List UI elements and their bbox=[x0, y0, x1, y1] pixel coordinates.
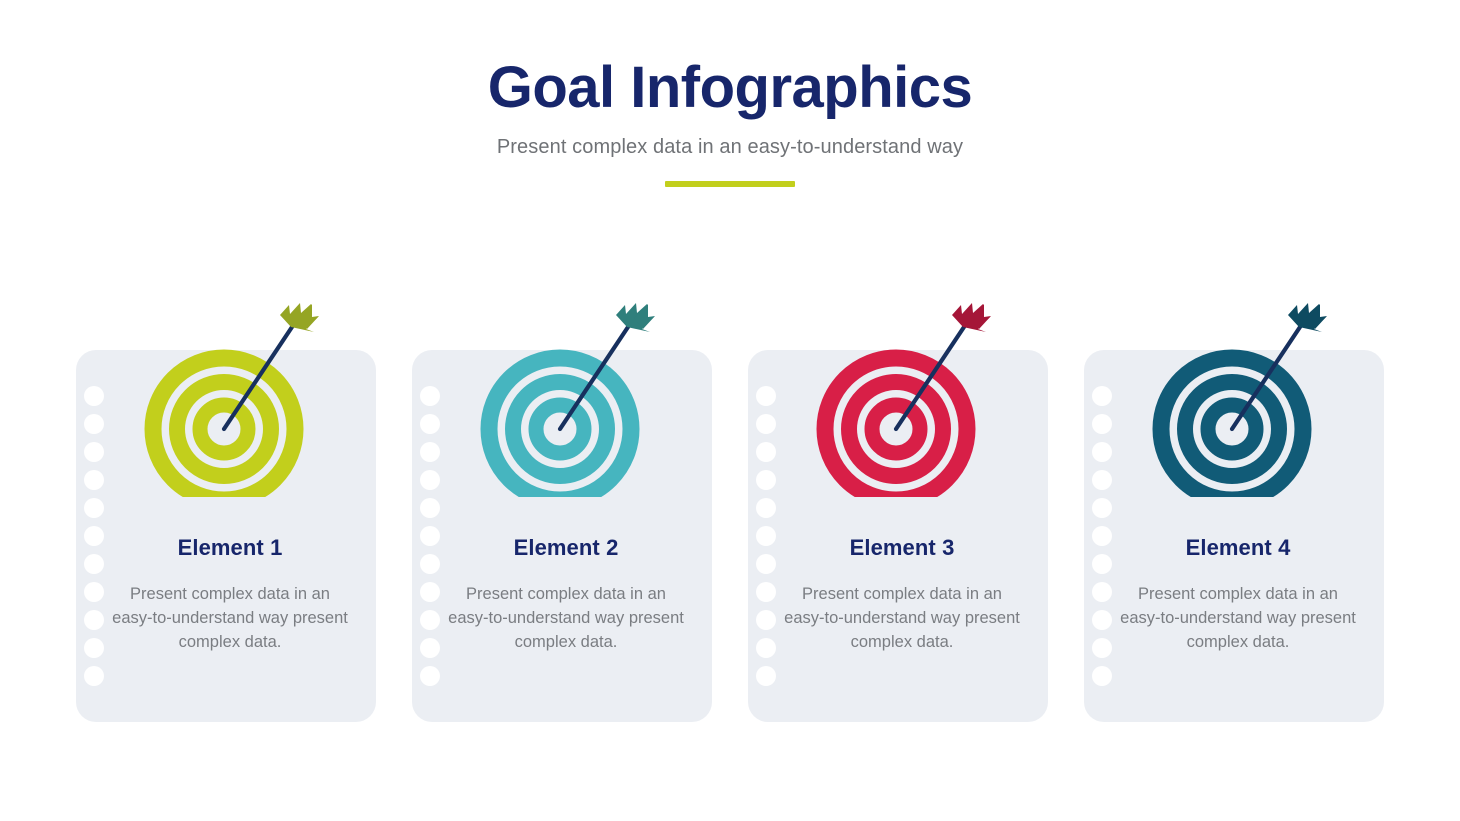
punch-hole bbox=[756, 442, 776, 462]
slide-canvas: Goal Infographics Present complex data i… bbox=[0, 0, 1460, 821]
bullseye-rings bbox=[1161, 358, 1303, 497]
arrow bbox=[1232, 303, 1327, 429]
punch-hole bbox=[756, 666, 776, 686]
card-title-1: Element 1 bbox=[94, 535, 366, 561]
bullseye-rings bbox=[153, 358, 295, 497]
card-body-4: Element 4 Present complex data in an eas… bbox=[1102, 535, 1374, 655]
page-title: Goal Infographics bbox=[0, 56, 1460, 120]
target-bullseye-arrow-icon bbox=[126, 282, 326, 497]
page-subtitle: Present complex data in an easy-to-under… bbox=[0, 136, 1460, 159]
target-bullseye-arrow-icon bbox=[462, 282, 662, 497]
card-title-4: Element 4 bbox=[1102, 535, 1374, 561]
punch-hole bbox=[84, 442, 104, 462]
punch-hole bbox=[420, 386, 440, 406]
punch-hole bbox=[756, 470, 776, 490]
card-body-1: Element 1 Present complex data in an eas… bbox=[94, 535, 366, 655]
element-card-3[interactable]: Element 3 Present complex data in an eas… bbox=[748, 350, 1048, 722]
element-card-2[interactable]: Element 2 Present complex data in an eas… bbox=[412, 350, 712, 722]
card-title-2: Element 2 bbox=[430, 535, 702, 561]
punch-hole bbox=[420, 470, 440, 490]
element-card-4[interactable]: Element 4 Present complex data in an eas… bbox=[1084, 350, 1384, 722]
punch-hole bbox=[1092, 442, 1112, 462]
punch-hole bbox=[1092, 386, 1112, 406]
slide-header: Goal Infographics Present complex data i… bbox=[0, 56, 1460, 187]
punch-hole bbox=[1092, 414, 1112, 434]
card-text-4: Present complex data in an easy-to-under… bbox=[1102, 583, 1374, 655]
punch-hole bbox=[84, 666, 104, 686]
card-title-3: Element 3 bbox=[766, 535, 1038, 561]
card-text-1: Present complex data in an easy-to-under… bbox=[94, 583, 366, 655]
arrow bbox=[560, 303, 655, 429]
punch-hole bbox=[1092, 470, 1112, 490]
bullseye-rings bbox=[489, 358, 631, 497]
card-text-2: Present complex data in an easy-to-under… bbox=[430, 583, 702, 655]
bullseye-rings bbox=[825, 358, 967, 497]
punch-hole bbox=[420, 442, 440, 462]
punch-hole bbox=[84, 470, 104, 490]
punch-hole bbox=[84, 498, 104, 518]
element-card-1[interactable]: Element 1 Present complex data in an eas… bbox=[76, 350, 376, 722]
card-body-2: Element 2 Present complex data in an eas… bbox=[430, 535, 702, 655]
card-body-3: Element 3 Present complex data in an eas… bbox=[766, 535, 1038, 655]
punch-hole bbox=[420, 414, 440, 434]
punch-hole bbox=[84, 386, 104, 406]
card-text-3: Present complex data in an easy-to-under… bbox=[766, 583, 1038, 655]
target-bullseye-arrow-icon bbox=[1134, 282, 1334, 497]
punch-hole bbox=[1092, 666, 1112, 686]
punch-hole bbox=[756, 498, 776, 518]
punch-hole bbox=[756, 386, 776, 406]
arrow bbox=[224, 303, 319, 429]
punch-hole bbox=[420, 666, 440, 686]
punch-hole bbox=[756, 414, 776, 434]
punch-hole bbox=[1092, 498, 1112, 518]
title-divider bbox=[665, 181, 795, 187]
cards-row: Element 1 Present complex data in an eas… bbox=[76, 350, 1384, 722]
punch-hole bbox=[420, 498, 440, 518]
punch-hole bbox=[84, 414, 104, 434]
arrow bbox=[896, 303, 991, 429]
target-bullseye-arrow-icon bbox=[798, 282, 998, 497]
